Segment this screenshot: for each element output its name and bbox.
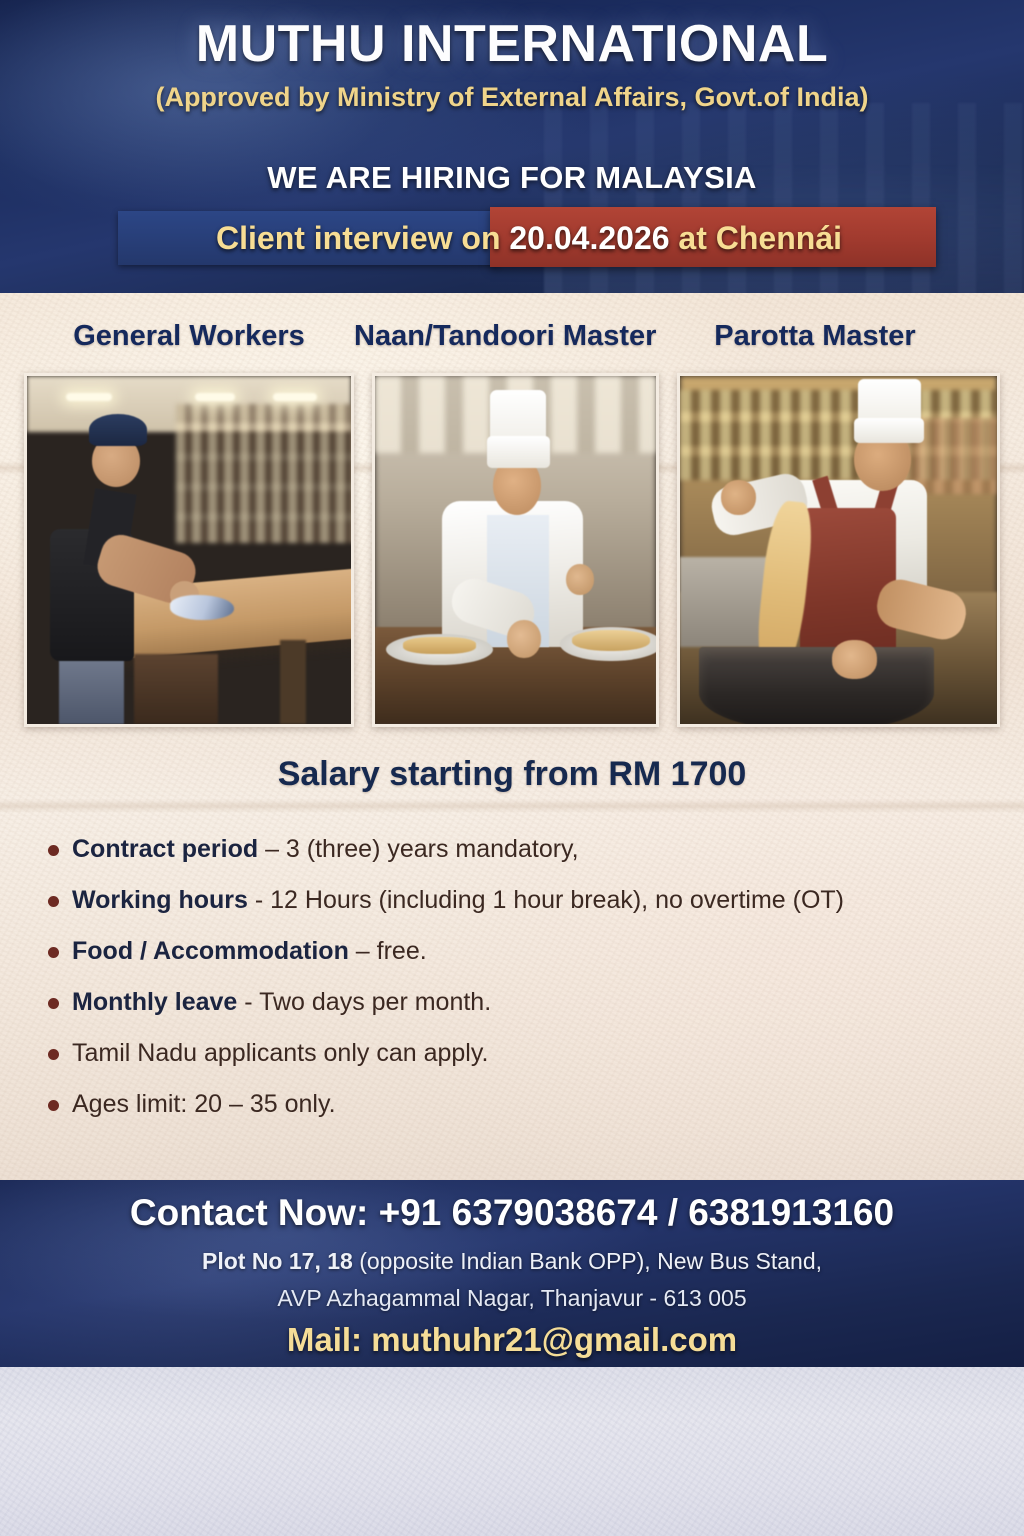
job-titles-row: General Workers Naan/Tandoori Master Par…: [0, 320, 1024, 353]
list-item: Contract period – 3 (three) years mandat…: [48, 835, 1024, 863]
poster-header: MUTHU INTERNATIONAL (Approved by Ministr…: [0, 0, 1024, 293]
list-item: Ages limit: 20 – 35 only.: [48, 1090, 1024, 1118]
term-text: Ages limit: 20 – 35 only.: [72, 1090, 336, 1118]
bottom-texture: [0, 1367, 1024, 1536]
poster-bottom-margin: [0, 1367, 1024, 1536]
bullet-dot-icon: [48, 998, 59, 1009]
job-title-parotta-master: Parotta Master: [654, 320, 976, 353]
photo-scene-naan-tandoori-master: [375, 376, 656, 724]
recruitment-poster: MUTHU INTERNATIONAL (Approved by Ministr…: [0, 0, 1024, 1536]
poster-footer: Contact Now: +91 6379038674 / 6381913160…: [0, 1180, 1024, 1367]
term-text: - Two days per month.: [237, 988, 491, 1016]
interview-banner: Client interview on 20.04.2026 at Chenná…: [118, 211, 936, 265]
job-photos-row: [24, 373, 1000, 727]
address-line-1-rest: (opposite Indian Bank OPP), New Bus Stan…: [353, 1248, 822, 1274]
interview-location: at Chennái: [670, 220, 842, 256]
list-item: Tamil Nadu applicants only can apply.: [48, 1039, 1024, 1067]
term-label: Monthly leave: [72, 988, 237, 1016]
photo-scene-general-worker: [27, 376, 351, 724]
address-plot-number: Plot No 17, 18: [202, 1248, 353, 1274]
bullet-dot-icon: [48, 1100, 59, 1111]
term-label: Contract period: [72, 835, 258, 863]
bullet-dot-icon: [48, 1049, 59, 1060]
list-item: Food / Accommodation – free.: [48, 937, 1024, 965]
contact-email-line[interactable]: Mail: muthuhr21@gmail.com: [0, 1321, 1024, 1359]
list-item: Monthly leave - Two days per month.: [48, 988, 1024, 1016]
term-label: Food / Accommodation: [72, 937, 349, 965]
poster-body: General Workers Naan/Tandoori Master Par…: [0, 293, 1024, 1180]
address-line-1: Plot No 17, 18 (opposite Indian Bank OPP…: [0, 1248, 1024, 1275]
list-item: Working hours - 12 Hours (including 1 ho…: [48, 886, 1024, 914]
paper-fold-line: [0, 799, 1024, 813]
bullet-dot-icon: [48, 947, 59, 958]
job-title-general-workers: General Workers: [24, 320, 354, 353]
term-text: - 12 Hours (including 1 hour break), no …: [248, 886, 844, 914]
job-title-naan-tandoori-master: Naan/Tandoori Master: [354, 320, 654, 353]
interview-prefix: Client interview on: [216, 220, 509, 256]
company-name: MUTHU INTERNATIONAL: [0, 14, 1024, 74]
address-line-2: AVP Azhagammal Nagar, Thanjavur - 613 00…: [0, 1285, 1024, 1312]
term-text: – free.: [349, 937, 427, 965]
salary-headline: Salary starting from RM 1700: [0, 755, 1024, 794]
terms-list: Contract period – 3 (three) years mandat…: [48, 835, 1024, 1141]
chef-pouring-batter-wok-photo: [677, 373, 1000, 727]
interview-date: 20.04.2026: [509, 220, 669, 256]
contact-phone-line[interactable]: Contact Now: +91 6379038674 / 6381913160: [0, 1192, 1024, 1234]
interview-text: Client interview on 20.04.2026 at Chenná…: [118, 220, 936, 257]
worker-wiping-table-photo: [24, 373, 354, 727]
term-label: Working hours: [72, 886, 248, 914]
bullet-dot-icon: [48, 896, 59, 907]
photo-scene-parotta-master: [680, 376, 997, 724]
term-text: Tamil Nadu applicants only can apply.: [72, 1039, 488, 1067]
hiring-headline: WE ARE HIRING FOR MALAYSIA: [0, 160, 1024, 196]
chef-plating-food-photo: [372, 373, 659, 727]
approval-subtitle: (Approved by Ministry of External Affair…: [0, 82, 1024, 113]
term-text: – 3 (three) years mandatory,: [258, 835, 579, 863]
bullet-dot-icon: [48, 845, 59, 856]
